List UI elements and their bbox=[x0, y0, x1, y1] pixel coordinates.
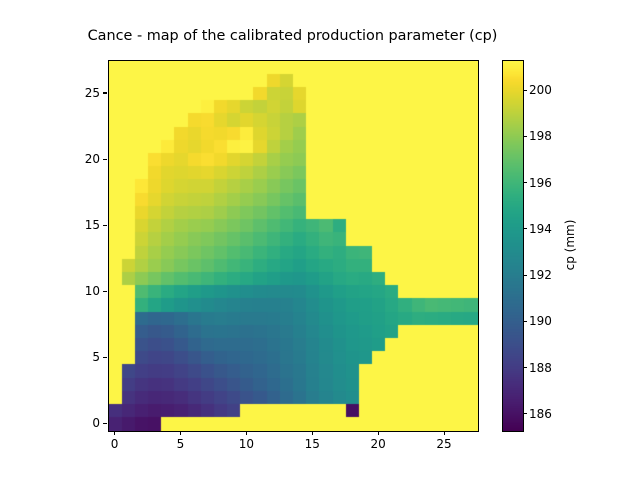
heatmap-axes bbox=[108, 60, 479, 432]
y-tick-label: 0 bbox=[60, 416, 100, 430]
x-tick-label: 10 bbox=[239, 437, 254, 451]
colorbar-label: cp (mm) bbox=[560, 60, 580, 430]
y-tick-mark bbox=[103, 92, 107, 93]
heatmap-image bbox=[109, 61, 478, 431]
colorbar-tick-label: 198 bbox=[529, 129, 552, 143]
matplotlib-figure: Cance - map of the calibrated production… bbox=[0, 0, 640, 480]
x-tick-label: 20 bbox=[371, 437, 386, 451]
colorbar bbox=[502, 60, 524, 432]
y-tick-label: 25 bbox=[60, 86, 100, 100]
colorbar-tick-label: 200 bbox=[529, 83, 552, 97]
x-tick-mark bbox=[246, 431, 247, 435]
colorbar-tick-label: 196 bbox=[529, 176, 552, 190]
colorbar-tick-label: 188 bbox=[529, 361, 552, 375]
x-tick-label: 5 bbox=[177, 437, 185, 451]
y-tick-label: 20 bbox=[60, 152, 100, 166]
y-tick-mark bbox=[103, 225, 107, 226]
y-tick-mark bbox=[103, 423, 107, 424]
colorbar-tick-mark bbox=[523, 228, 527, 229]
x-tick-label: 25 bbox=[436, 437, 451, 451]
x-tick-mark bbox=[444, 431, 445, 435]
y-tick-mark bbox=[103, 159, 107, 160]
y-tick-mark bbox=[103, 291, 107, 292]
y-tick-label: 5 bbox=[60, 350, 100, 364]
colorbar-tick-mark bbox=[523, 182, 527, 183]
colorbar-tick-mark bbox=[523, 321, 527, 322]
colorbar-gradient bbox=[503, 61, 523, 431]
x-tick-mark bbox=[312, 431, 313, 435]
y-tick-label: 10 bbox=[60, 284, 100, 298]
x-tick-label: 15 bbox=[305, 437, 320, 451]
x-tick-label: 0 bbox=[111, 437, 119, 451]
x-tick-mark bbox=[114, 431, 115, 435]
colorbar-tick-mark bbox=[523, 413, 527, 414]
colorbar-tick-mark bbox=[523, 136, 527, 137]
y-tick-label: 15 bbox=[60, 218, 100, 232]
colorbar-tick-mark bbox=[523, 275, 527, 276]
x-tick-mark bbox=[180, 431, 181, 435]
colorbar-tick-label: 192 bbox=[529, 268, 552, 282]
y-tick-mark bbox=[103, 357, 107, 358]
colorbar-tick-label: 186 bbox=[529, 407, 552, 421]
colorbar-tick-mark bbox=[523, 90, 527, 91]
colorbar-tick-label: 194 bbox=[529, 222, 552, 236]
x-tick-mark bbox=[378, 431, 379, 435]
colorbar-tick-label: 190 bbox=[529, 314, 552, 328]
colorbar-tick-mark bbox=[523, 367, 527, 368]
page-title: Cance - map of the calibrated production… bbox=[0, 28, 585, 44]
